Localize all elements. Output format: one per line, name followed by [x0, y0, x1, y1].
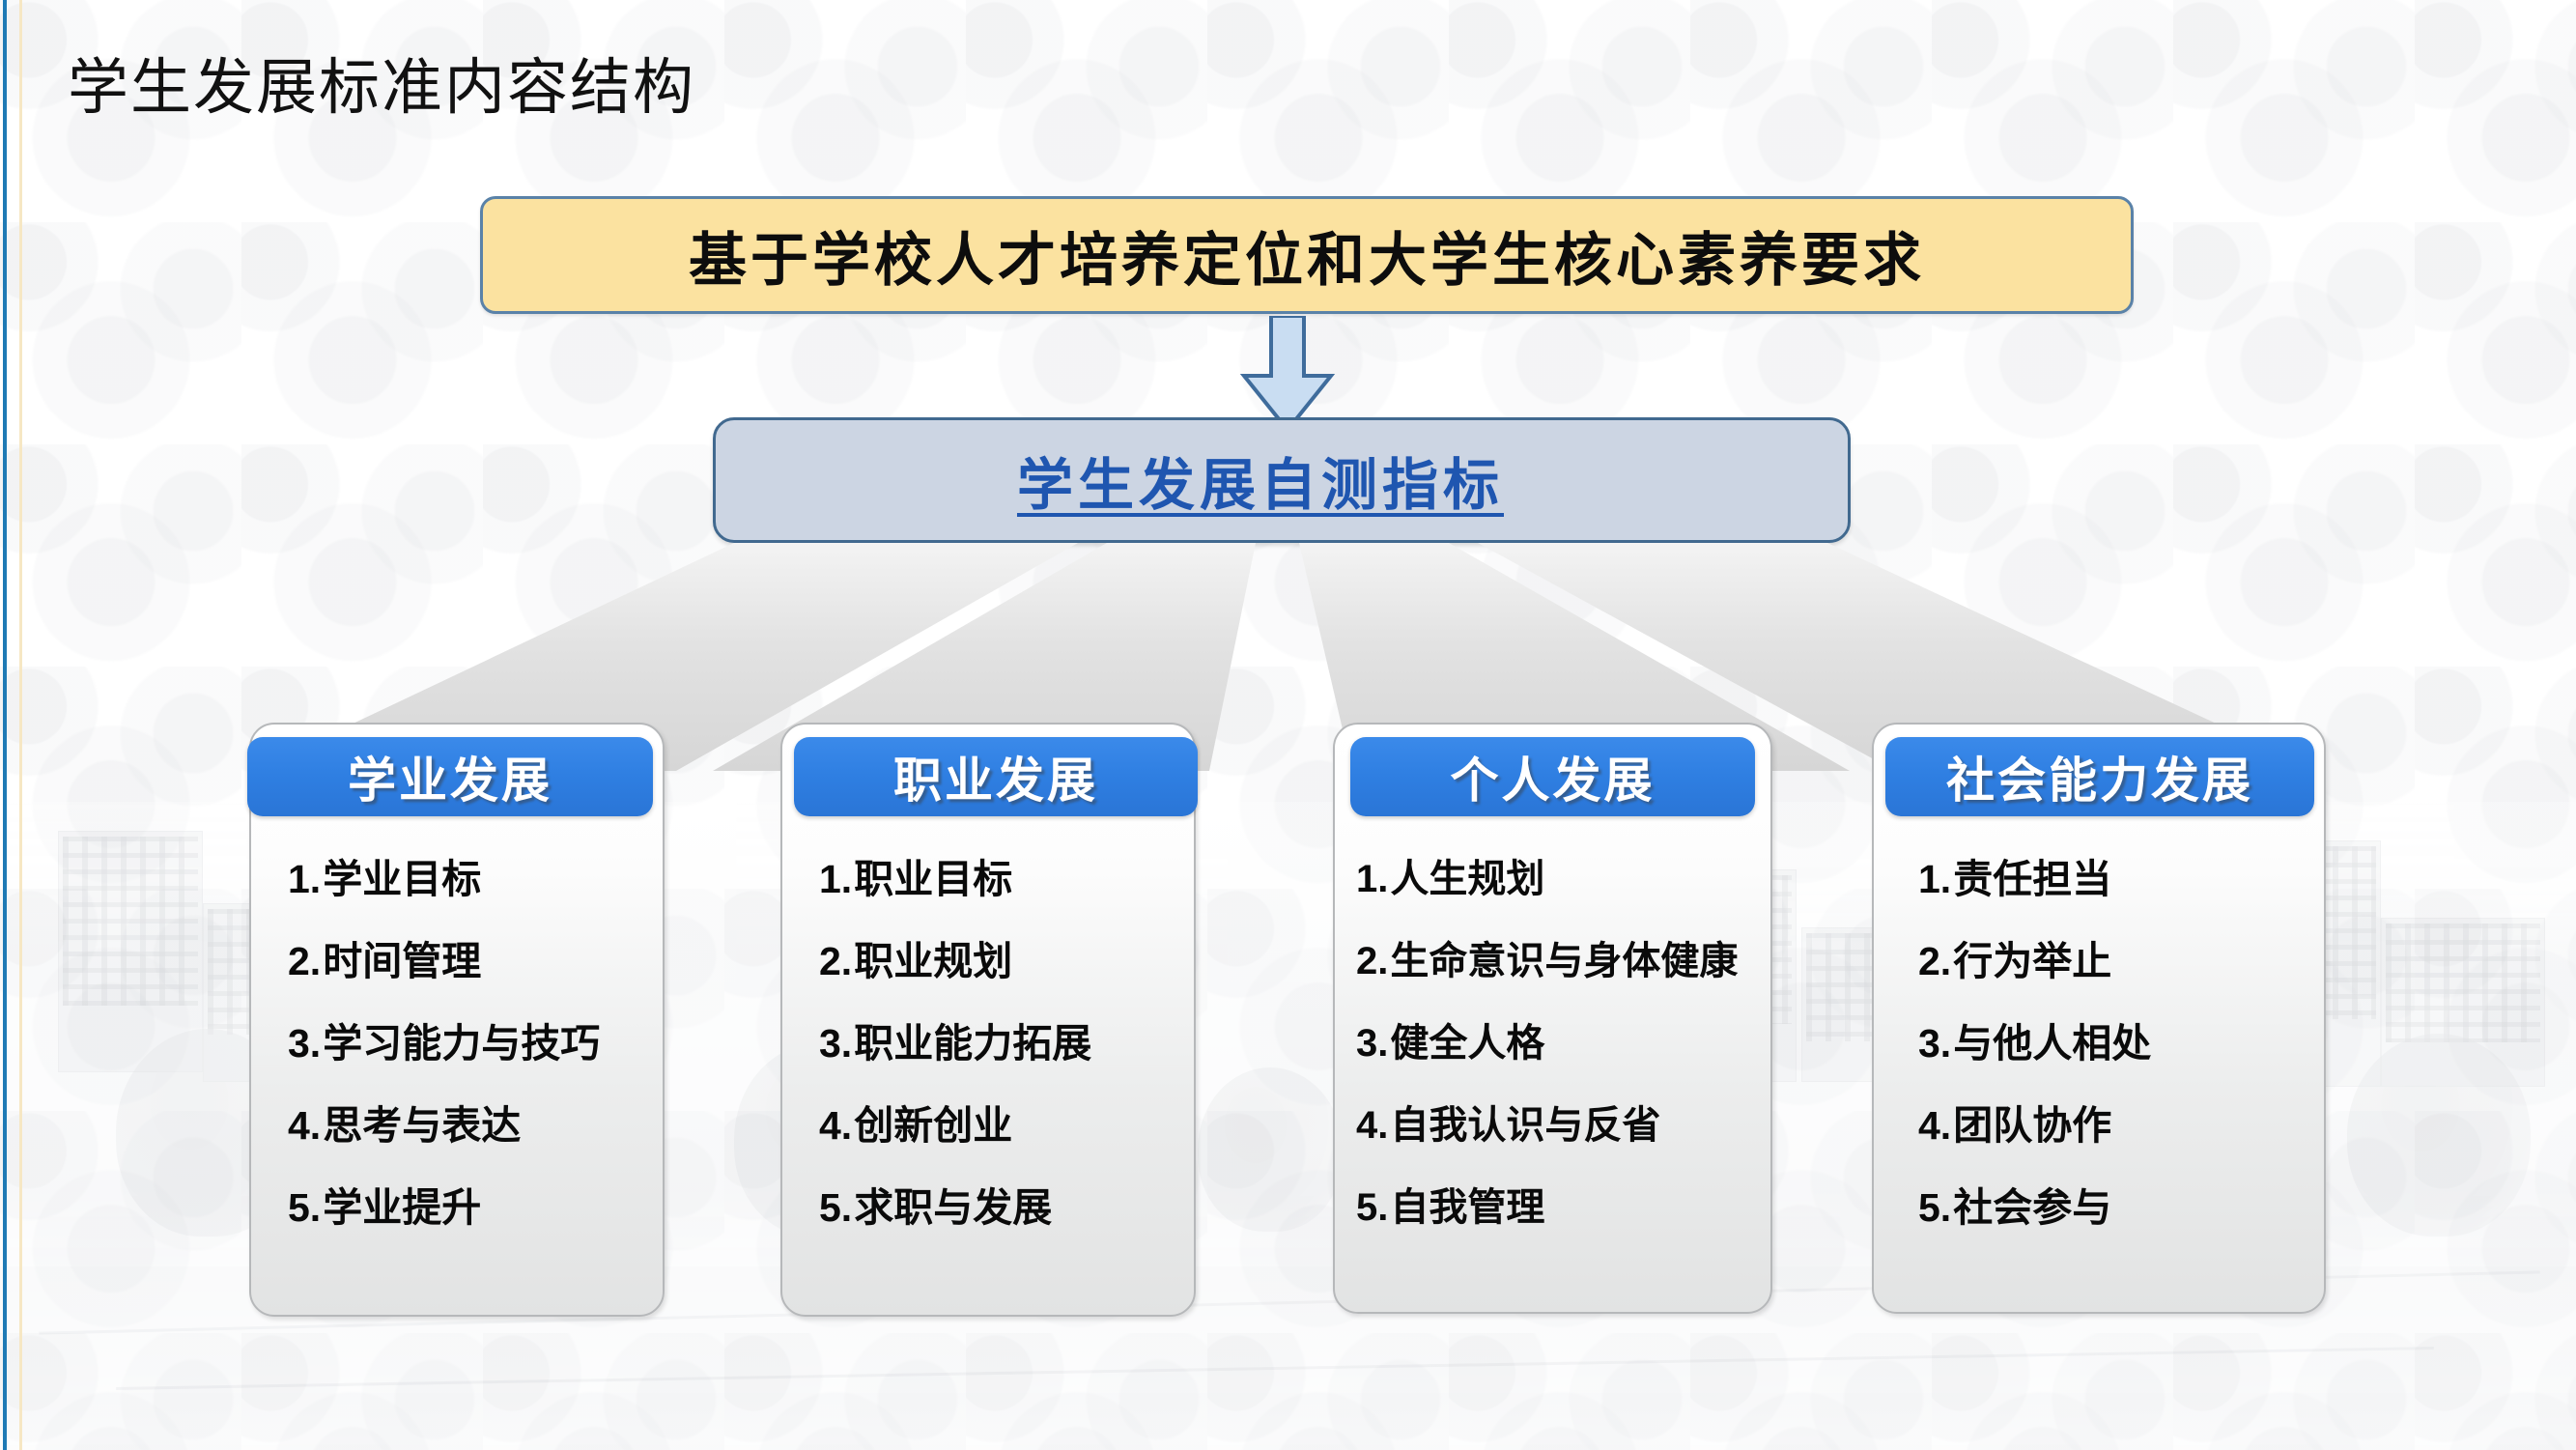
list-item[interactable]: 5.求职与发展 — [819, 1167, 1180, 1249]
list-item-index: 3. — [288, 1021, 321, 1066]
list-item-label: 创新创业 — [854, 1103, 1012, 1148]
list-item[interactable]: 2.时间管理 — [288, 921, 649, 1003]
list-item-index: 3. — [1918, 1021, 1951, 1066]
list-item-label: 学习能力与技巧 — [323, 1021, 600, 1066]
list-item[interactable]: 2.职业规划 — [819, 921, 1180, 1003]
list-item[interactable]: 5.学业提升 — [288, 1167, 649, 1249]
list-item[interactable]: 4.团队协作 — [1918, 1085, 2310, 1167]
card-header-academic: 学业发展 — [247, 737, 653, 816]
list-item-label: 时间管理 — [323, 939, 481, 983]
list-item-label: 生命意识与身体健康 — [1390, 940, 1738, 982]
list-item[interactable]: 1.责任担当 — [1918, 839, 2310, 921]
list-item-label: 社会参与 — [1953, 1185, 2111, 1230]
list-item-index: 1. — [1356, 858, 1388, 900]
list-item-label: 求职与发展 — [854, 1185, 1052, 1230]
list-item-index: 3. — [819, 1021, 852, 1066]
list-item[interactable]: 5.社会参与 — [1918, 1167, 2310, 1249]
list-item[interactable]: 1.学业目标 — [288, 839, 649, 921]
indicator-box[interactable]: 学生发展自测指标 — [713, 417, 1851, 543]
list-item-index: 2. — [1356, 940, 1388, 982]
list-item[interactable]: 1.职业目标 — [819, 839, 1180, 921]
list-item-label: 行为举止 — [1953, 939, 2111, 983]
card-item-list: 1.学业目标 2.时间管理 3.学习能力与技巧 4.思考与表达 5.学业提升 — [251, 839, 663, 1249]
category-card-personal[interactable]: 个人发展 1.人生规划 2.生命意识与身体健康 3.健全人格 4.自我认识与反省… — [1333, 723, 1772, 1314]
list-item[interactable]: 4.思考与表达 — [288, 1085, 649, 1167]
road-marking — [116, 1347, 2434, 1390]
list-item-label: 职业能力拓展 — [854, 1021, 1091, 1066]
down-arrow-icon — [1239, 316, 1336, 432]
list-item-label: 思考与表达 — [323, 1103, 521, 1148]
list-item-index: 4. — [1918, 1103, 1951, 1148]
list-item-label: 责任担当 — [1953, 857, 2111, 901]
card-item-list: 1.职业目标 2.职业规划 3.职业能力拓展 4.创新创业 5.求职与发展 — [782, 839, 1194, 1249]
list-item[interactable]: 3.职业能力拓展 — [819, 1003, 1180, 1085]
card-header-label: 学业发展 — [348, 742, 552, 811]
page-title: 学生发展标准内容结构 — [68, 39, 695, 127]
list-item[interactable]: 4.自我认识与反省 — [1356, 1085, 1757, 1167]
list-item-label: 健全人格 — [1390, 1022, 1544, 1065]
category-card-career[interactable]: 职业发展 1.职业目标 2.职业规划 3.职业能力拓展 4.创新创业 5.求职与… — [780, 723, 1196, 1317]
list-item-index: 5. — [288, 1185, 321, 1230]
list-item-label: 团队协作 — [1953, 1103, 2111, 1148]
list-item-index: 2. — [819, 939, 852, 983]
indicator-link[interactable]: 学生发展自测指标 — [1017, 440, 1504, 521]
list-item-index: 4. — [1356, 1104, 1388, 1147]
card-header-label: 职业发展 — [893, 742, 1098, 811]
card-header-social: 社会能力发展 — [1885, 737, 2314, 816]
list-item[interactable]: 2.行为举止 — [1918, 921, 2310, 1003]
list-item-label: 自我管理 — [1390, 1186, 1544, 1229]
slide-canvas: 学生发展标准内容结构 基于学校人才培养定位和大学生核心素养要求 学生发展自测指标 — [0, 0, 2576, 1450]
card-header-label: 个人发展 — [1451, 742, 1656, 811]
list-item-label: 职业目标 — [854, 857, 1012, 901]
list-item-index: 2. — [1918, 939, 1951, 983]
list-item-label: 职业规划 — [854, 939, 1012, 983]
list-item-index: 2. — [288, 939, 321, 983]
card-header-career: 职业发展 — [794, 737, 1198, 816]
premise-box: 基于学校人才培养定位和大学生核心素养要求 — [480, 196, 2134, 314]
list-item-index: 5. — [1918, 1185, 1951, 1230]
card-item-list: 1.人生规划 2.生命意识与身体健康 3.健全人格 4.自我认识与反省 5.自我… — [1335, 839, 1770, 1249]
list-item-index: 1. — [1918, 857, 1951, 901]
list-item[interactable]: 3.与他人相处 — [1918, 1003, 2310, 1085]
list-item-index: 3. — [1356, 1022, 1388, 1065]
category-card-social[interactable]: 社会能力发展 1.责任担当 2.行为举止 3.与他人相处 4.团队协作 5.社会… — [1872, 723, 2326, 1314]
list-item-index: 1. — [819, 857, 852, 901]
list-item-index: 5. — [1356, 1186, 1388, 1229]
list-item-label: 与他人相处 — [1953, 1021, 2151, 1066]
card-header-personal: 个人发展 — [1350, 737, 1755, 816]
list-item-index: 5. — [819, 1185, 852, 1230]
premise-text: 基于学校人才培养定位和大学生核心素养要求 — [689, 213, 1925, 298]
category-card-row: 学业发展 1.学业目标 2.时间管理 3.学习能力与技巧 4.思考与表达 5.学… — [0, 723, 2576, 1331]
list-item-index: 1. — [288, 857, 321, 901]
list-item-label: 学业提升 — [323, 1185, 481, 1230]
list-item[interactable]: 4.创新创业 — [819, 1085, 1180, 1167]
list-item[interactable]: 3.健全人格 — [1356, 1003, 1757, 1085]
list-item-label: 人生规划 — [1390, 858, 1544, 900]
category-card-academic[interactable]: 学业发展 1.学业目标 2.时间管理 3.学习能力与技巧 4.思考与表达 5.学… — [249, 723, 665, 1317]
list-item[interactable]: 2.生命意识与身体健康 — [1356, 921, 1757, 1003]
list-item-index: 4. — [819, 1103, 852, 1148]
list-item-index: 4. — [288, 1103, 321, 1148]
card-header-label: 社会能力发展 — [1946, 742, 2253, 811]
list-item[interactable]: 5.自我管理 — [1356, 1167, 1757, 1249]
list-item-label: 学业目标 — [323, 857, 481, 901]
list-item-label: 自我认识与反省 — [1390, 1104, 1660, 1147]
list-item[interactable]: 1.人生规划 — [1356, 839, 1757, 921]
list-item[interactable]: 3.学习能力与技巧 — [288, 1003, 649, 1085]
card-item-list: 1.责任担当 2.行为举止 3.与他人相处 4.团队协作 5.社会参与 — [1874, 839, 2324, 1249]
